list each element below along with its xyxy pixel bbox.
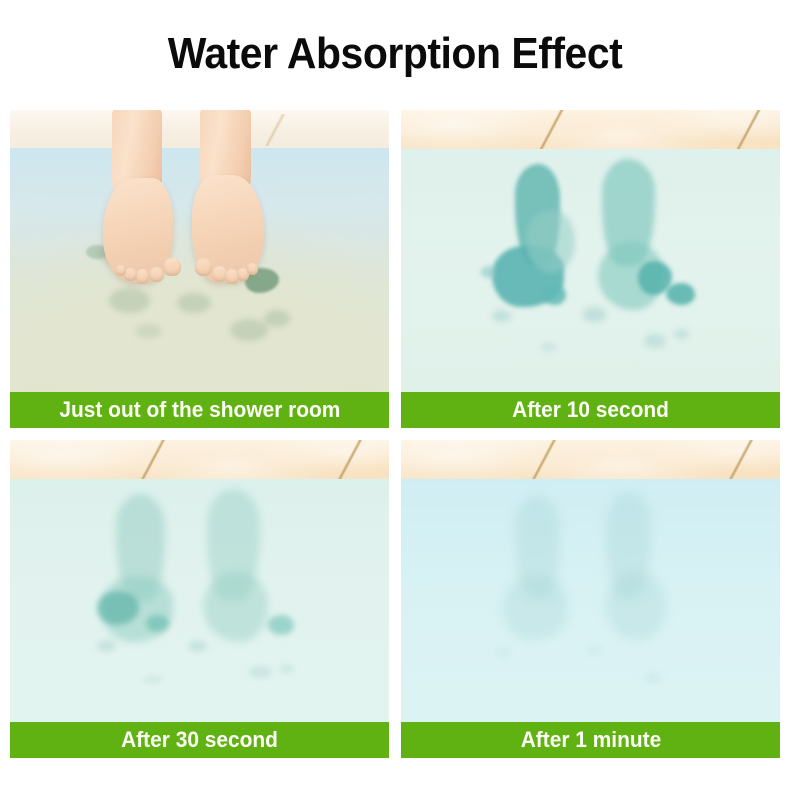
caption-bar: After 30 second [10,722,389,758]
footprint-ball [606,572,667,640]
water-droplet [587,647,602,654]
water-droplet [249,666,272,678]
panel-after-10-second: After 10 second [401,110,780,428]
tile-grout-line [431,440,658,481]
footprint-right [401,149,780,392]
photo-mat-nearly-dry [401,440,780,722]
water-blotch [109,288,151,313]
water-absorption-infographic: Water Absorption Effect [0,0,790,790]
bath-mat [401,479,780,722]
toe [163,258,180,275]
panel-after-30-second: After 30 second [10,440,389,758]
footprint-toe-spot [268,615,295,634]
tile-grout-line [439,110,666,151]
toe [149,267,164,283]
panel-after-1-minute: After 1 minute [401,440,780,758]
water-droplet [583,307,606,322]
bath-mat [401,149,780,392]
caption-label: After 30 second [121,729,278,751]
bathroom-wall [401,110,780,151]
caption-bar: After 10 second [401,392,780,428]
caption-label: After 1 minute [520,729,661,751]
water-droplet [97,640,116,652]
photo-footprints-strong [401,110,780,392]
footprint-ball [203,572,267,642]
toe [136,269,150,284]
tile-grout-line [636,110,780,151]
left-foot [103,178,173,282]
bathroom-wall [10,440,389,481]
toe [247,263,258,274]
footprint-right [401,479,780,722]
water-droplet [541,343,556,350]
footprint-toe-spot [666,283,694,305]
caption-bar: Just out of the shower room [10,392,389,428]
bath-mat [10,479,389,722]
water-droplet [143,676,162,683]
toe [115,265,126,276]
water-blotch [177,293,211,313]
caption-bar: After 1 minute [401,722,780,758]
caption-label: After 10 second [512,399,669,421]
photo-footprints-faint [10,440,389,722]
panel-grid: Just out of the shower room [10,110,780,758]
toe [124,268,136,281]
caption-label: Just out of the shower room [59,399,340,421]
tile-grout-line [40,440,267,481]
water-droplet [674,329,689,339]
tile-grout-line [237,440,389,481]
water-blotch [230,319,268,342]
footprint-right [10,479,389,722]
water-droplet [492,310,511,322]
bathroom-wall [401,440,780,481]
tile-grout-line [628,440,780,481]
toe [195,258,212,275]
panel-just-out-of-shower: Just out of the shower room [10,110,389,428]
page-title: Water Absorption Effect [28,28,763,80]
water-droplet [188,640,207,652]
photo-feet-on-mat [10,110,389,392]
